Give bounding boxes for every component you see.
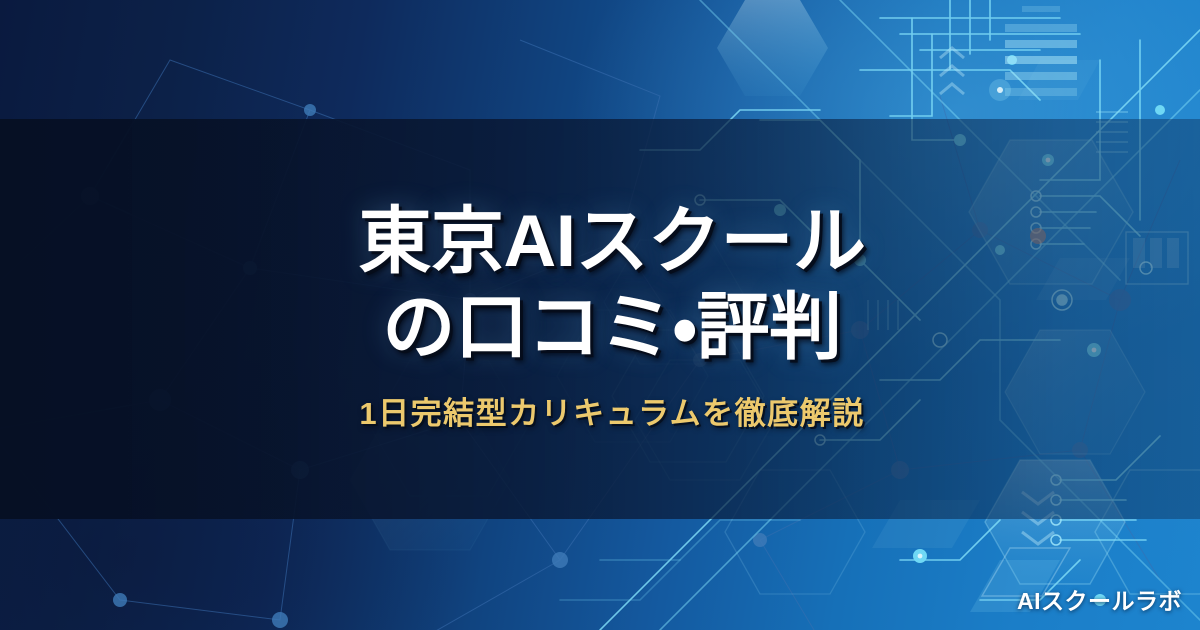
watermark-label: AIスクールラボ [1017,582,1182,616]
watermark-backdrop-shape [0,0,1200,630]
hero-banner: 東京AIスクール の口コミ・評判 1日完結型カリキュラムを徹底解説 AIスクール… [0,0,1200,630]
